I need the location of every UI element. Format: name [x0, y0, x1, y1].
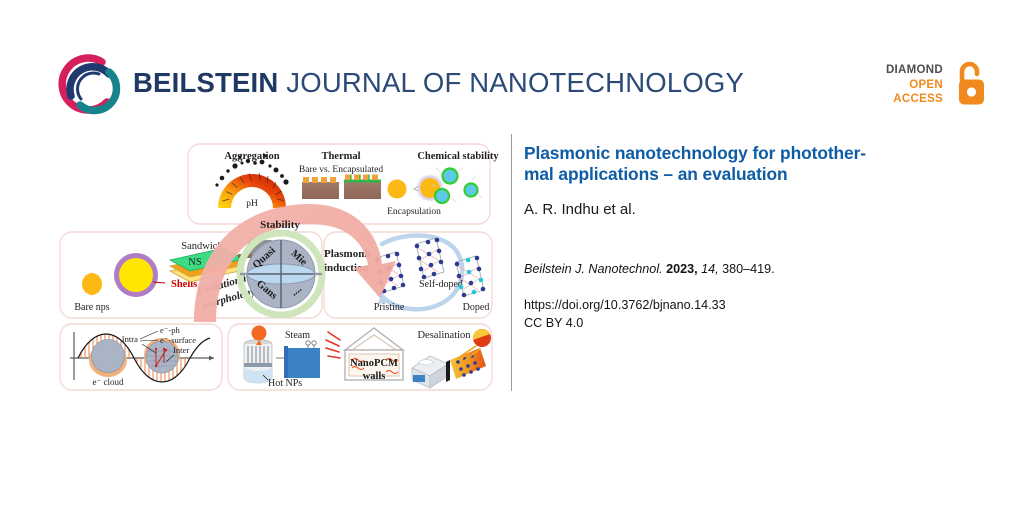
article-authors: A. R. Indhu et al.: [524, 200, 954, 219]
journal-name-light: JOURNAL OF NANOTECHNOLOGY: [278, 67, 744, 98]
svg-text:Steam: Steam: [285, 330, 310, 341]
article-citation: Beilstein J. Nanotechnol. 2023, 14, 380–…: [524, 261, 954, 278]
license-label: CC BY 4.0: [524, 316, 583, 330]
cover-page: BEILSTEIN JOURNAL OF NANOTECHNOLOGY DIAM…: [0, 0, 1024, 512]
journal-header: BEILSTEIN JOURNAL OF NANOTECHNOLOGY DIAM…: [0, 0, 1024, 130]
journal-name-bold: BEILSTEIN: [133, 67, 278, 98]
svg-text:Pristine: Pristine: [374, 302, 405, 313]
article-title: Plasmonic nanotechnology for photother-m…: [524, 143, 954, 184]
citation-journal: Beilstein J. Nanotechnol.: [524, 262, 663, 276]
open-access-text: DIAMOND OPEN ACCESS: [868, 63, 943, 107]
oa-access-label: ACCESS: [868, 92, 943, 107]
svg-text:Chemical stability: Chemical stability: [417, 151, 499, 162]
svg-text:Inter: Inter: [173, 345, 189, 355]
svg-text:Desalination: Desalination: [417, 330, 471, 341]
svg-text:Self-doped: Self-doped: [419, 279, 463, 290]
oa-diamond-label: DIAMOND: [868, 63, 943, 78]
citation-year: 2023,: [666, 262, 698, 276]
theory-core: Quasi Mie Gans ....: [240, 233, 322, 315]
citation-volume: 14,: [701, 262, 719, 276]
graphical-abstract: Aggregation pH: [52, 132, 500, 394]
vertical-divider: [511, 134, 512, 391]
citation-pages: 380–419.: [722, 262, 775, 276]
beilstein-spiral-logo: [57, 52, 123, 118]
svg-text:Bare nps: Bare nps: [74, 302, 109, 313]
svg-text:NS: NS: [188, 257, 202, 268]
svg-text:Intra: Intra: [122, 334, 138, 344]
svg-text:walls: walls: [363, 371, 386, 382]
svg-text:e⁻ cloud: e⁻ cloud: [93, 377, 124, 387]
svg-text:NanoPCM: NanoPCM: [350, 358, 398, 369]
panel-electron-cloud: e⁻ cloud Intra e⁻-ph e⁻-surface: [60, 324, 222, 390]
svg-text:e⁻-ph: e⁻-ph: [160, 325, 181, 335]
svg-text:<: <: [413, 184, 418, 194]
article-meta: Plasmonic nanotechnology for photother-m…: [524, 143, 954, 332]
open-padlock-icon: [951, 60, 987, 108]
panel-applications: Steam Hot NPs: [228, 324, 492, 390]
article-title-line1: Plasmonic nanotechnology for photother-: [524, 143, 866, 163]
doi-block: https://doi.org/10.3762/bjnano.14.33 CC …: [524, 297, 954, 332]
svg-text:Thermal: Thermal: [321, 151, 360, 162]
svg-text:Stability: Stability: [260, 219, 300, 231]
article-title-line2: mal applications – an evaluation: [524, 164, 788, 184]
journal-name: BEILSTEIN JOURNAL OF NANOTECHNOLOGY: [133, 69, 744, 97]
svg-text:Encapsulation: Encapsulation: [387, 207, 441, 217]
oa-open-label: OPEN: [868, 78, 943, 93]
svg-text:Aggregation: Aggregation: [224, 151, 279, 162]
svg-text:Hot NPs: Hot NPs: [268, 378, 302, 389]
svg-text:pH: pH: [246, 199, 258, 209]
panel-plasmonic-induction: Plasmonic induction: [324, 232, 492, 318]
svg-text:Doped: Doped: [463, 302, 490, 313]
open-access-badge: DIAMOND OPEN ACCESS: [868, 60, 988, 112]
doi-link[interactable]: https://doi.org/10.3762/bjnano.14.33: [524, 298, 726, 312]
svg-text:Bare vs. Encapsulated: Bare vs. Encapsulated: [299, 165, 383, 175]
svg-text:e⁻-surface: e⁻-surface: [160, 335, 196, 345]
